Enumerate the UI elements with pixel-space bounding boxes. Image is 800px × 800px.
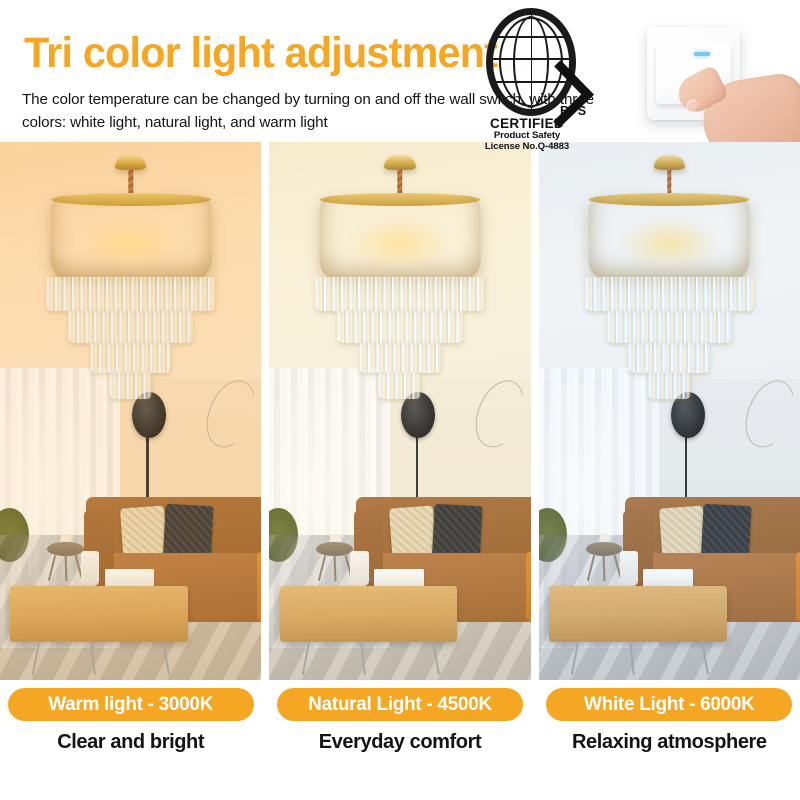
color-temperature-tint: [269, 142, 530, 680]
globe-parallel: [493, 58, 569, 60]
caption-column-warm: Warm light - 3000K Clear and bright: [0, 688, 261, 800]
hand-pressing-switch: [678, 60, 800, 150]
caption-white-light: Relaxing atmosphere: [572, 731, 767, 754]
license-number: License No.Q-4883: [468, 141, 586, 152]
certified-label: CERTIFIED: [468, 116, 586, 131]
caption-natural-light: Everyday comfort: [319, 731, 482, 754]
panel-natural-light[interactable]: [269, 142, 530, 680]
badge-white-light: White Light - 6000K: [546, 688, 792, 721]
panel-row: [0, 142, 800, 680]
color-temperature-tint: [0, 142, 261, 680]
panel-white-light[interactable]: [539, 142, 800, 680]
panel-warm-light[interactable]: [0, 142, 261, 680]
wall-switch-photo: [600, 0, 800, 150]
caption-column-white: White Light - 6000K Relaxing atmosphere: [539, 688, 800, 800]
bps-certification-mark: BPS CERTIFIED Product Safety License No.…: [468, 8, 598, 153]
badge-natural-light: Natural Light - 4500K: [277, 688, 523, 721]
page-title: Tri color light adjustment: [24, 29, 497, 78]
switch-indicator-led: [694, 52, 710, 56]
caption-warm-light: Clear and bright: [57, 731, 204, 754]
caption-row: Warm light - 3000K Clear and bright Natu…: [0, 688, 800, 800]
product-safety-label: Product Safety: [468, 130, 586, 141]
badge-warm-light: Warm light - 3000K: [8, 688, 254, 721]
fingernail: [684, 97, 700, 113]
color-temperature-tint: [539, 142, 800, 680]
caption-column-natural: Natural Light - 4500K Everyday comfort: [269, 688, 530, 800]
globe-parallel: [493, 36, 569, 38]
